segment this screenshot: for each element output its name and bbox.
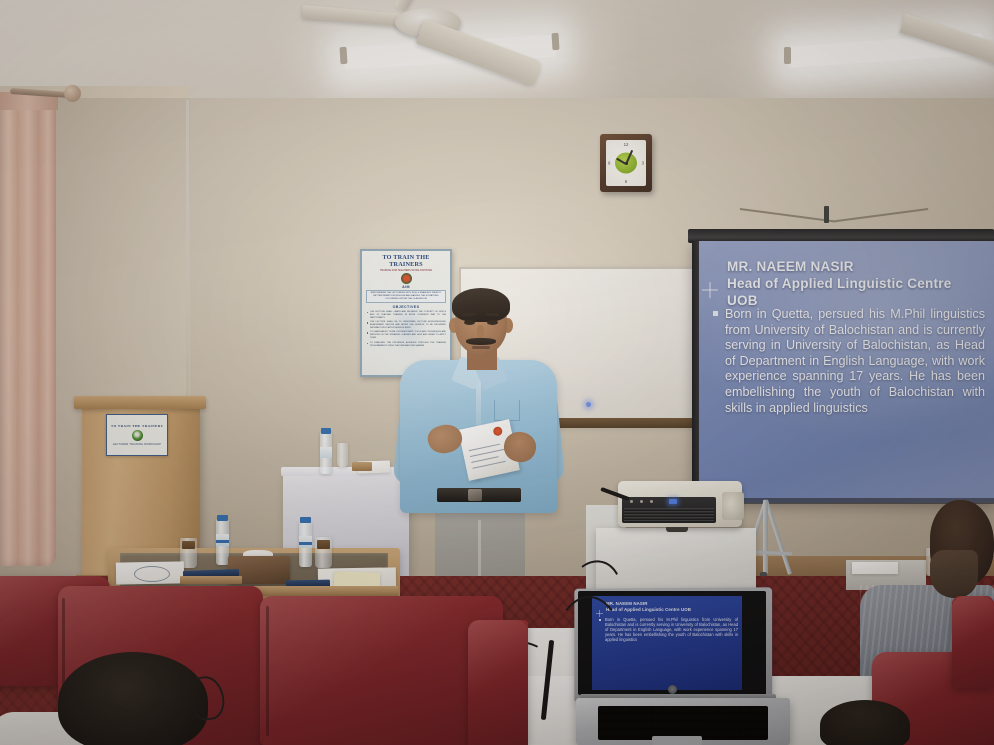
paper-sheet <box>852 562 898 574</box>
presenter-belt-buckle <box>468 489 482 501</box>
presenter-eye <box>487 320 498 325</box>
whiteboard-reflection-dot <box>586 402 591 407</box>
poster-objective-item: THE LECTURE SHALL BE TO UNDERTAKE LECTUR… <box>366 321 446 330</box>
projector-lens <box>722 492 744 520</box>
presenter-moustache <box>466 338 496 345</box>
water-bottle-cap <box>217 515 228 521</box>
poster-emblem-icon <box>401 273 412 284</box>
presenter-eye <box>464 320 475 325</box>
screen-left-border <box>692 241 699 503</box>
poster-objective-item: TO EVALUATE THE PROGRESS ACHIEVED THROUG… <box>366 342 446 348</box>
laptop-slide-title-line2: Head of Applied Linguistic Centre UOB <box>606 607 738 613</box>
slide-body-text: Born in Quetta, persued his M.Phil lingu… <box>725 307 985 416</box>
podium-sign-arc-text: TO TRAIN THE TRAINERS <box>111 424 163 428</box>
red-armchair-back[interactable] <box>952 596 994 688</box>
tripod-center-post <box>763 500 768 574</box>
presenter-shirt-pocket <box>494 400 520 421</box>
laptop-keyboard[interactable] <box>598 706 768 740</box>
clock-center-pin <box>625 162 628 165</box>
tea-in-glass <box>317 540 330 549</box>
screen-hanging-wire <box>740 208 928 228</box>
tube-light-cap-left <box>339 47 347 64</box>
pen-tray <box>180 576 242 584</box>
window-curtain <box>0 96 56 566</box>
slide-title-line1: MR. NAEEM NASIR <box>727 258 986 275</box>
screen-alignment-cross-icon <box>702 289 718 291</box>
slide-title: MR. NAEEM NASIR Head of Applied Linguist… <box>727 258 986 309</box>
laptop-trackpad[interactable] <box>652 736 702 745</box>
poster-aim-text: EMPOWERING THE LECTURERS WITH SKILLS ENA… <box>366 290 446 303</box>
clock-numeral-3: 3 <box>642 161 644 166</box>
handout-logo-icon <box>492 426 503 437</box>
projector-indicator-led <box>640 500 643 503</box>
podium-top-surface <box>74 396 206 409</box>
presenter-mouth <box>472 346 490 349</box>
poster-aim-heading: AIM <box>366 285 446 289</box>
poster-objective-item: TO LEARN ABOUT SOME CONTEMPORARY TOOLS A… <box>366 331 446 340</box>
poster-subtitle: TRAINING FOR TEACHERS OF BALOCHISTAN <box>366 269 446 272</box>
clock-numeral-6: 6 <box>625 179 627 184</box>
podium-sign-subtext: LECTURER TRAINING WORKSHOP <box>113 443 161 446</box>
seminar-room-photo: 12 3 6 9 TO TRAIN THE TRAINERS TRAINING … <box>0 0 994 745</box>
laptop-brand-logo-icon <box>668 685 677 694</box>
poster-objective-item: THE LECTURE SHALL LEARN AND BROADEN THE … <box>366 311 446 320</box>
screen-hanging-hook <box>824 206 829 223</box>
water-bottle-label-band <box>216 540 229 543</box>
projector-indicator-led <box>650 500 653 503</box>
tube-light-cap-right <box>551 33 559 50</box>
drinking-glass <box>337 443 348 467</box>
projector-vent-grille <box>624 508 714 521</box>
laptop-slide-body: Born in Quetta, persued his M.Phil lingu… <box>605 617 738 642</box>
poster-title: TO TRAIN THE TRAINERS <box>366 254 446 268</box>
attendee-right-beard <box>930 550 978 598</box>
clock-numeral-12: 12 <box>624 142 629 147</box>
water-bottle-label <box>320 447 332 458</box>
presenter-hair <box>452 288 510 322</box>
notepad-logo-icon <box>134 566 170 582</box>
slide-title-line2: Head of Applied Linguistic Centre UOB <box>727 275 986 309</box>
wall-clock: 12 3 6 9 <box>600 134 652 192</box>
podium-emblem-icon <box>132 430 143 441</box>
slide-bullet-icon <box>713 311 718 316</box>
back-table-top <box>281 467 411 476</box>
red-armchair[interactable] <box>260 596 503 745</box>
clock-face: 12 3 6 9 <box>606 140 646 186</box>
attendee-corner-head <box>820 700 910 745</box>
water-bottle-label-band <box>299 542 312 545</box>
wooden-box <box>352 462 372 471</box>
tube-light-right-cap <box>784 47 791 64</box>
podium-sign: TO TRAIN THE TRAINERS LECTURER TRAINING … <box>106 414 168 456</box>
curtain-finial-icon <box>64 85 81 102</box>
tea-in-glass <box>182 541 195 549</box>
projector-screen: MR. NAEEM NASIR Head of Applied Linguist… <box>692 241 994 503</box>
water-bottle-cap <box>321 428 331 434</box>
laptop-slide-title: MR. NAEEM NASIR Head of Applied Linguist… <box>606 601 738 612</box>
projector-indicator-led <box>630 500 633 503</box>
wall-poster-train-the-trainers: TO TRAIN THE TRAINERS TRAINING FOR TEACH… <box>360 249 452 377</box>
water-bottle-cap <box>300 517 311 523</box>
presenter-nose <box>477 325 484 338</box>
clock-numeral-9: 9 <box>608 161 610 166</box>
attendee-front-head <box>58 652 208 745</box>
red-armchair-arm[interactable] <box>468 620 528 745</box>
projector-power-led-icon <box>669 499 677 504</box>
